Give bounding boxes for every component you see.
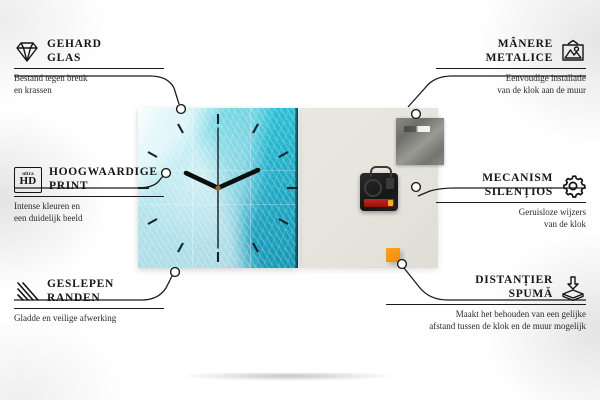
callout-high-quality-print: ultra HD HOOGWAARDIGE PRINT Intense kleu… xyxy=(14,166,164,224)
movement-dial xyxy=(364,179,382,197)
callout-header: GEHARD GLAS xyxy=(14,38,164,65)
beveled-edge-icon xyxy=(14,279,40,305)
aa-battery xyxy=(364,199,394,207)
callout-divider xyxy=(436,202,586,203)
callout-desc-line: Maakt het behouden van een gelijke xyxy=(386,308,586,320)
product-drop-shadow xyxy=(138,373,438,382)
callout-divider xyxy=(14,68,164,69)
ultra-hd-icon: ultra HD xyxy=(14,167,42,193)
picture-hanger-icon xyxy=(560,39,586,65)
callout-title: HOOGWAARDIGE PRINT xyxy=(49,166,158,193)
callout-header: ultra HD HOOGWAARDIGE PRINT xyxy=(14,166,164,193)
callout-title: DISTANȚIER SPUMĂ xyxy=(475,274,553,301)
callout-divider xyxy=(386,304,586,305)
hanger-slot xyxy=(404,126,430,132)
callout-desc-line: Intense kleuren en xyxy=(14,200,164,212)
callout-header: GESLEPEN RANDEN xyxy=(14,278,164,305)
callout-silent-mechanism: MECANISM SILENȚIOS Geruisloze wijzers va… xyxy=(436,172,586,230)
diamond-icon xyxy=(14,39,40,65)
callout-desc-line: Bestand tegen breuk xyxy=(14,72,164,84)
gear-icon xyxy=(560,173,586,199)
battery-positive-terminal xyxy=(388,200,393,206)
callout-title: GESLEPEN RANDEN xyxy=(47,278,114,305)
glass-reflection-line xyxy=(250,108,251,268)
callout-tempered-glass: GEHARD GLAS Bestand tegen breuk en krass… xyxy=(14,38,164,96)
callout-desc-line: van de klok aan de muur xyxy=(436,84,586,96)
callout-desc-line: Geruisloze wijzers xyxy=(436,206,586,218)
callout-desc-line: afstand tussen de klok en de muur mogeli… xyxy=(386,320,586,332)
product-image xyxy=(138,108,438,268)
callout-header: MECANISM SILENȚIOS xyxy=(436,172,586,199)
callout-title: MECANISM SILENȚIOS xyxy=(482,172,553,199)
metal-hanger-plate xyxy=(396,118,444,165)
callout-desc-line: en krassen xyxy=(14,84,164,96)
foam-spacer-icon xyxy=(560,275,586,301)
callout-metal-handles: MÂNERE METALICE Eenvoudige installatie v… xyxy=(436,38,586,96)
glass-reflection-line xyxy=(192,108,193,268)
callout-anchor-dot xyxy=(171,268,180,277)
callout-divider xyxy=(14,196,164,197)
callout-desc-line: van de klok xyxy=(436,218,586,230)
movement-hanger-loop xyxy=(370,166,392,177)
callout-header: MÂNERE METALICE xyxy=(436,38,586,65)
callout-desc-line: Gladde en veilige afwerking xyxy=(14,312,164,324)
infographic-canvas: GEHARD GLAS Bestand tegen breuk en krass… xyxy=(0,0,600,400)
foam-spacer-pad xyxy=(386,248,400,262)
callout-title: GEHARD GLAS xyxy=(47,38,102,65)
callout-title: MÂNERE METALICE xyxy=(486,38,553,65)
callout-beveled-edges: GESLEPEN RANDEN Gladde en veilige afwerk… xyxy=(14,278,164,324)
callout-desc-line: een duidelijk beeld xyxy=(14,212,164,224)
callout-desc-line: Eenvoudige installatie xyxy=(436,72,586,84)
glass-edge-shadow xyxy=(295,108,298,268)
callout-divider xyxy=(14,308,164,309)
callout-header: DISTANȚIER SPUMĂ xyxy=(386,274,586,301)
callout-divider xyxy=(436,68,586,69)
movement-port xyxy=(386,178,394,189)
clock-movement xyxy=(360,173,398,211)
callout-foam-spacer: DISTANȚIER SPUMĂ Maakt het behouden van … xyxy=(386,274,586,332)
